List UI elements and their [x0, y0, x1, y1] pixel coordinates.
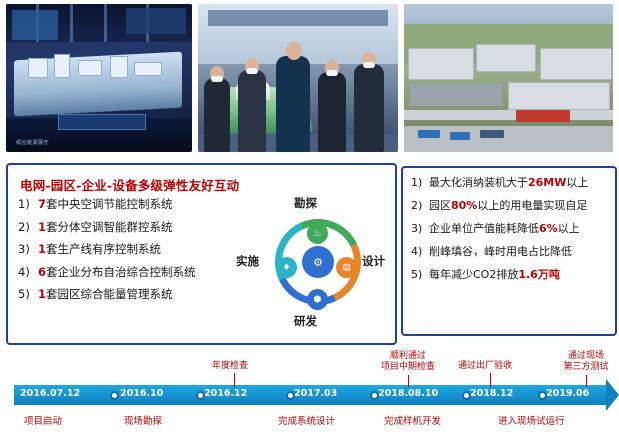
person	[354, 64, 384, 152]
ceiling-beam	[70, 4, 73, 42]
highlight-value: 1.6万吨	[518, 268, 560, 281]
timeline-date: 2019.06	[546, 388, 589, 399]
list-item: 1) 7套中央空调节能控制系统	[18, 197, 230, 212]
text-pre: 最大化消纳装机大于	[429, 176, 528, 189]
face-mask	[211, 76, 223, 82]
leaf-icon: ♨	[307, 223, 328, 244]
timeline-label-above: 年度检查	[212, 361, 248, 372]
timeline-label-below: 完成系统设计	[278, 413, 335, 427]
diagram-label-left: 实施	[236, 253, 259, 269]
list-item-unit: 套	[46, 265, 58, 279]
left-panel-list: 1) 7套中央空调节能控制系统 2) 1套分体空调智能群控系统 3) 1套生产线…	[18, 197, 230, 310]
person	[318, 72, 346, 152]
timeline-node	[370, 391, 379, 400]
photo-aerial-factory	[404, 4, 613, 152]
list-item-unit: 套	[46, 220, 58, 234]
timeline-date: 2017.03	[294, 388, 337, 399]
diagram-label-bottom: 研发	[294, 313, 317, 329]
factory-roof	[476, 44, 536, 72]
person	[204, 78, 230, 152]
text-pre: 园区	[429, 199, 451, 212]
highlight-qty: 7	[38, 197, 46, 211]
list-item: 3) 1套生产线有序控制系统	[18, 242, 230, 257]
list-item-body: 企业分布自治综合控制系统	[58, 265, 196, 279]
highlight-qty: 1	[38, 242, 46, 256]
left-info-panel: 电网-园区-企业-设备多级弹性友好互动 1) 7套中央空调节能控制系统 2) 1…	[6, 163, 397, 345]
timeline-arrow-icon	[606, 379, 619, 411]
list-item-text: 削峰填谷，峰时用电占比降低	[429, 245, 572, 259]
model-block	[54, 54, 70, 78]
left-panel-title: 电网-园区-企业-设备多级弹性友好互动	[20, 175, 239, 194]
list-item: 4) 6套企业分布自治综合控制系统	[18, 265, 230, 280]
list-item-body: 分体空调智能群控系统	[58, 220, 173, 234]
wall-screen	[126, 8, 186, 34]
face-mask	[363, 62, 375, 68]
face-mask	[326, 70, 338, 76]
highlight-qty: 1	[38, 220, 46, 234]
highlight-value: 6%	[539, 222, 558, 235]
list-item-text: 6套企业分布自治综合控制系统	[38, 265, 230, 280]
highlight-value: 26MW	[528, 176, 566, 189]
photo-strip: 综合能源展厅	[6, 4, 613, 152]
model-block	[78, 60, 102, 76]
list-item-number: 3)	[18, 242, 38, 257]
timeline-date: 2018.12	[470, 388, 513, 399]
timeline-date: 2016.10	[120, 388, 163, 399]
list-item-number: 1)	[411, 176, 429, 190]
list-item: 5) 每年减少CO2排放1.6万吨	[411, 268, 607, 282]
timeline-label-below: 完成样机开发	[384, 413, 441, 427]
timeline-date: 2018.08.10	[378, 388, 438, 399]
diagram-label-right: 设计	[362, 253, 385, 269]
truck	[418, 130, 440, 138]
text-pre: 削峰填谷，峰时用电占比降低	[429, 245, 572, 258]
text-post: 以上	[566, 176, 588, 189]
list-item-text: 1套园区综合能量管理系统	[38, 287, 230, 302]
list-item: 1) 最大化消纳装机大于26MW以上	[411, 176, 607, 190]
right-panel-list: 1) 最大化消纳装机大于26MW以上 2) 园区80%以上的用电量实现自足 3)…	[411, 176, 607, 291]
list-item-number: 3)	[411, 222, 429, 236]
project-timeline: 2016.07.12 2016.10 2016.12 2017.03 2018.…	[6, 345, 613, 441]
process-cycle-diagram: 勘探 设计 研发 实施 ♨ ▤ ⬢ ♦ ⚙	[234, 195, 386, 335]
timeline-label-below: 现场勘探	[124, 413, 162, 427]
factory-roof	[540, 48, 612, 80]
photo-exhibition-hall-model: 综合能源展厅	[6, 4, 192, 152]
timeline-label-above: 顺利通过 项目中期检查	[378, 351, 438, 373]
chart-icon: ▤	[336, 257, 357, 278]
text-post: 以上	[558, 222, 580, 235]
person-leader	[276, 56, 310, 152]
drop-icon: ♦	[276, 257, 297, 278]
highlight-value: 80%	[451, 199, 477, 212]
timeline-tick	[490, 373, 491, 387]
list-item-number: 1)	[18, 197, 38, 212]
list-item-body: 生产线有序控制系统	[58, 242, 162, 256]
red-signboard	[516, 110, 570, 122]
list-item-text: 最大化消纳装机大于26MW以上	[429, 176, 588, 190]
timeline-node	[538, 391, 547, 400]
list-item-body: 中央空调节能控制系统	[58, 197, 173, 211]
person-head	[286, 42, 302, 60]
factory-roof	[508, 82, 610, 110]
timeline-tick	[408, 375, 409, 387]
list-item: 3) 企业单位产值能耗降低6%以上	[411, 222, 607, 236]
timeline-tick	[234, 373, 235, 387]
list-item-number: 5)	[18, 287, 38, 302]
text-post: 以上的用电量实现自足	[477, 199, 587, 212]
timeline-label-above: 通过现场 第三方测试	[558, 351, 614, 373]
photo-caption: 综合能源展厅	[16, 139, 49, 146]
list-item-unit: 套	[46, 242, 58, 256]
timeline-label-below: 进入现场试运行	[498, 413, 565, 427]
wall-screen	[12, 10, 58, 40]
list-item-number: 5)	[411, 268, 429, 282]
truck	[450, 132, 470, 140]
timeline-date: 2016.12	[204, 388, 247, 399]
list-item-body: 园区综合能量管理系统	[58, 287, 173, 301]
highlight-qty: 6	[38, 265, 46, 279]
list-item: 4) 削峰填谷，峰时用电占比降低	[411, 245, 607, 259]
model-block	[28, 58, 48, 78]
timeline-node	[110, 391, 119, 400]
model-block	[134, 62, 162, 76]
timeline-label-below: 项目启动	[24, 413, 62, 427]
hex-icon: ⬢	[307, 289, 328, 310]
list-item-text: 1套生产线有序控制系统	[38, 242, 230, 257]
right-info-panel: 1) 最大化消纳装机大于26MW以上 2) 园区80%以上的用电量实现自足 3)…	[401, 166, 617, 336]
person	[238, 70, 266, 152]
list-item: 2) 园区80%以上的用电量实现自足	[411, 199, 607, 213]
diagram-label-top: 勘探	[294, 195, 317, 211]
list-item: 2) 1套分体空调智能群控系统	[18, 220, 230, 235]
list-item-text: 企业单位产值能耗降低6%以上	[429, 222, 580, 236]
timeline-node	[196, 391, 205, 400]
timeline-node	[286, 391, 295, 400]
factory-roof	[408, 48, 474, 80]
road	[404, 110, 613, 120]
timeline-date: 2016.07.12	[20, 388, 80, 399]
ceiling-beam	[104, 4, 107, 42]
factory-roof-dark	[410, 84, 502, 106]
list-item-number: 4)	[18, 265, 38, 280]
timeline-node	[462, 391, 471, 400]
face-mask	[246, 68, 258, 74]
list-item-number: 2)	[411, 199, 429, 213]
list-item-text: 园区80%以上的用电量实现自足	[429, 199, 587, 213]
wall-banner	[208, 10, 388, 26]
list-item-number: 2)	[18, 220, 38, 235]
model-caption-plate	[58, 114, 146, 130]
photo-officials-tour	[198, 4, 398, 152]
text-pre: 企业单位产值能耗降低	[429, 222, 539, 235]
list-item-text: 每年减少CO2排放1.6万吨	[429, 268, 560, 282]
gear-icon: ⚙	[302, 246, 334, 278]
truck	[480, 130, 504, 138]
list-item: 5) 1套园区综合能量管理系统	[18, 287, 230, 302]
list-item-unit: 套	[46, 287, 58, 301]
timeline-label-above: 通过出厂验收	[458, 361, 512, 372]
list-item-text: 7套中央空调节能控制系统	[38, 197, 230, 212]
highlight-qty: 1	[38, 287, 46, 301]
list-item-text: 1套分体空调智能群控系统	[38, 220, 230, 235]
list-item-number: 4)	[411, 245, 429, 259]
text-pre: 每年减少CO2排放	[429, 268, 518, 281]
list-item-unit: 套	[46, 197, 58, 211]
timeline-tick	[586, 375, 587, 387]
model-block	[110, 56, 128, 78]
